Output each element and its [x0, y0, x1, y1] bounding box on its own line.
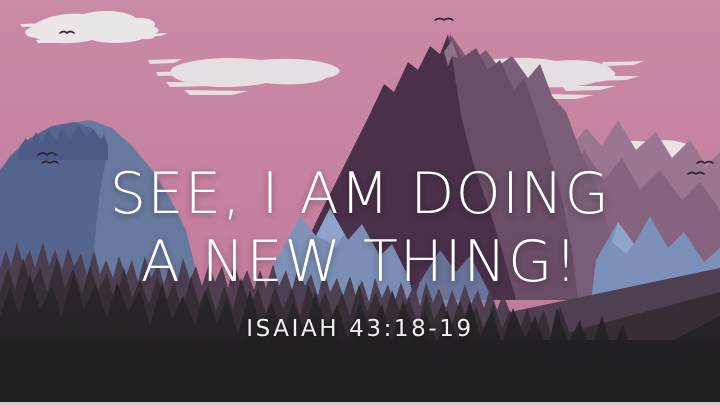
bird-icon	[38, 19, 713, 175]
birds-layer	[0, 0, 720, 405]
scripture-quote-image: SEE, I AM DOING A NEW THING! ISAIAH 43:1…	[0, 0, 720, 405]
